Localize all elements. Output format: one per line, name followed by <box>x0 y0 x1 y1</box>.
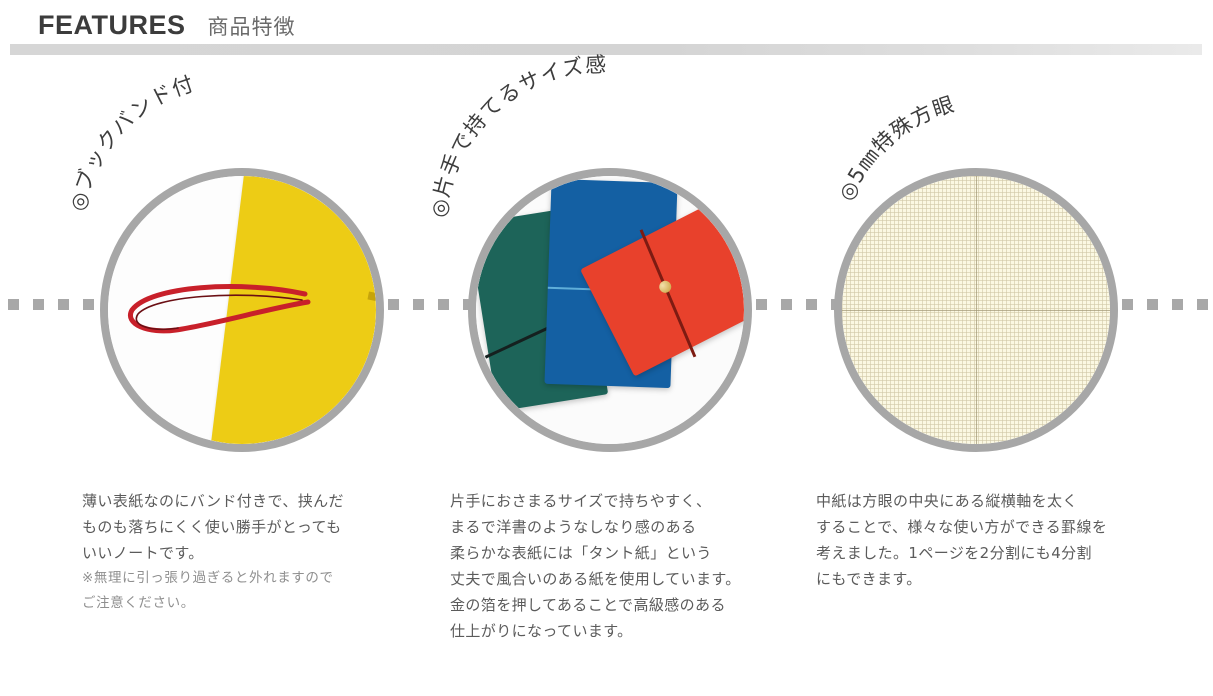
red-elastic-band <box>120 272 280 330</box>
caption-line: にもできます。 <box>816 566 1156 592</box>
red-notebook-gold-stud <box>657 279 673 295</box>
page-title-en: FEATURES <box>38 10 186 41</box>
photo-grid-paper <box>842 176 1110 444</box>
page-title: FEATURES 商品特徴 <box>38 10 296 41</box>
page-title-jp: 商品特徴 <box>208 11 296 41</box>
feature-2-circle <box>468 168 752 452</box>
feature-2-ring <box>468 168 752 452</box>
feature-3-caption: 中紙は方眼の中央にある縦横軸を太く することで、様々な使い方ができる罫線を 考え… <box>816 488 1156 592</box>
caption-line: ものも落ちにくく使い勝手がとっても <box>82 514 422 540</box>
caption-line: 考えました。1ページを2分割にも4分割 <box>816 540 1156 566</box>
feature-1-caption: 薄い表紙なのにバンド付きで、挟んだ ものも落ちにくく使い勝手がとっても いいノー… <box>82 488 422 616</box>
notebook-foil-text <box>367 292 376 313</box>
feature-1-circle <box>100 168 384 452</box>
caption-line: 丈夫で風合いのある紙を使用しています。 <box>450 566 790 592</box>
caption-line: 中紙は方眼の中央にある縦横軸を太く <box>816 488 1156 514</box>
features-row: ◎ブックバンド付 <box>0 118 1213 678</box>
feature-2-caption: 片手におさまるサイズで持ちやすく、 まるで洋書のようなしなり感のある 柔らかな表… <box>450 488 790 644</box>
feature-1-ring <box>100 168 384 452</box>
caption-line: 薄い表紙なのにバンド付きで、挟んだ <box>82 488 422 514</box>
page-header: FEATURES 商品特徴 <box>0 0 1213 56</box>
grid-horizontal-axis <box>842 310 1110 311</box>
photo-yellow-notebook <box>108 176 376 444</box>
feature-3-photo-clip <box>842 176 1110 444</box>
feature-2-photo-clip <box>476 176 744 444</box>
feature-3-ring <box>834 168 1118 452</box>
caption-line: 柔らかな表紙には「タント紙」という <box>450 540 790 566</box>
caption-line: 仕上がりになっています。 <box>450 618 790 644</box>
photo-three-notebooks <box>476 176 744 444</box>
caption-line: することで、様々な使い方ができる罫線を <box>816 514 1156 540</box>
caption-line: 片手におさまるサイズで持ちやすく、 <box>450 488 790 514</box>
caption-note-line: ※無理に引っ張り過ぎると外れますので <box>82 566 422 591</box>
caption-line: まるで洋書のようなしなり感のある <box>450 514 790 540</box>
feature-3-circle <box>834 168 1118 452</box>
feature-1-photo-clip <box>108 176 376 444</box>
red-notebook-strap <box>640 229 697 357</box>
caption-line: いいノートです。 <box>82 540 422 566</box>
caption-note-line: ご注意ください。 <box>82 591 422 616</box>
caption-line: 金の箔を押してあることで高級感のある <box>450 592 790 618</box>
